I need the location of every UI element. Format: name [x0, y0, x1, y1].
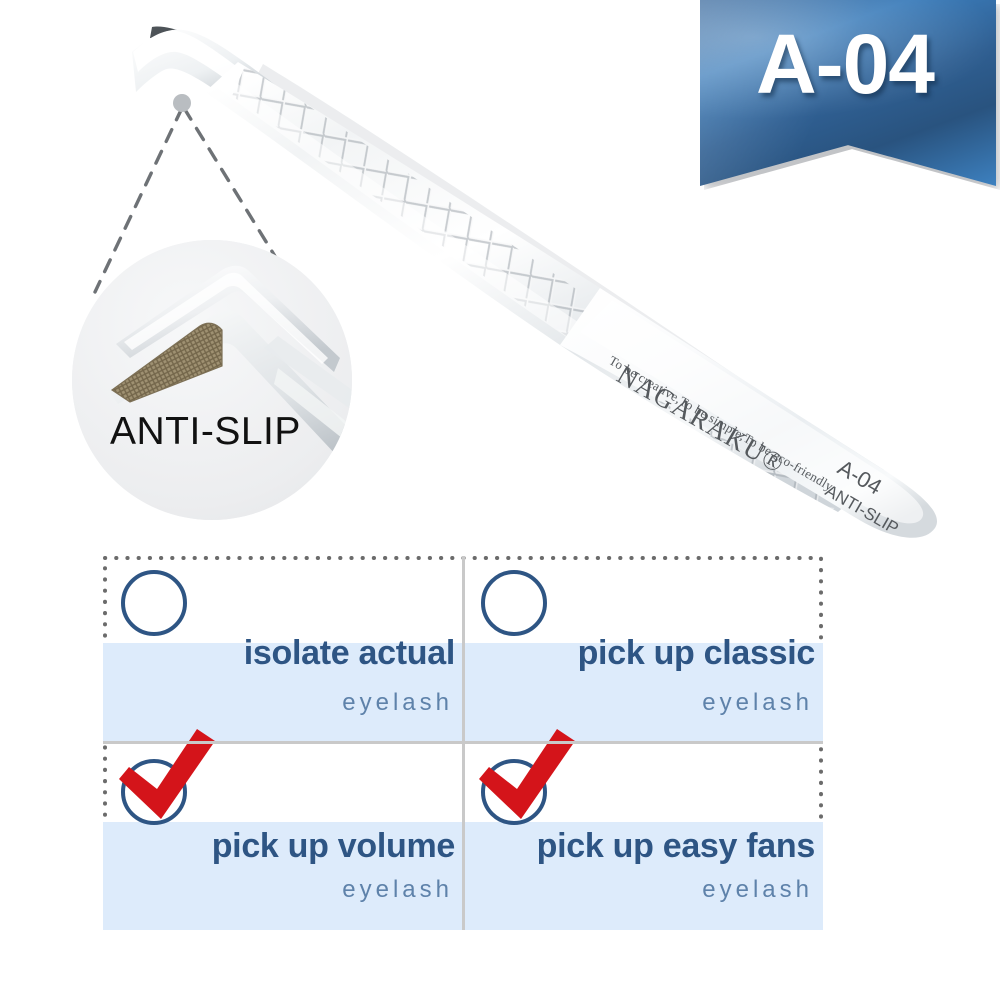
anti-slip-caption: ANTI-SLIP [110, 410, 301, 454]
handle-engraving: NAGARAKU® To be creative,To be simple,To… [607, 353, 902, 538]
feature-cell-isolate-actual[interactable]: isolate actual eyelash [103, 556, 463, 743]
feature-title: pick up easy fans [537, 827, 815, 866]
model-badge-ribbon: A-04 [700, 0, 1000, 186]
product-image-canvas: NAGARAKU® To be creative,To be simple,To… [0, 0, 1000, 1000]
feature-cell-pick-up-easy-fans[interactable]: pick up easy fans eyelash [463, 743, 823, 930]
feature-comparison-grid: isolate actual eyelash pick up classic e… [103, 556, 823, 930]
magnifier-content [72, 240, 352, 520]
ribbon-label: A-04 [700, 16, 990, 113]
empty-circle-icon[interactable] [481, 570, 547, 636]
feature-title: pick up classic [578, 634, 815, 673]
anti-slip-magnifier [72, 240, 352, 520]
feature-subtitle: eyelash [342, 876, 453, 904]
feature-cell-pick-up-classic[interactable]: pick up classic eyelash [463, 556, 823, 743]
feature-subtitle: eyelash [342, 689, 453, 717]
feature-title: pick up volume [212, 827, 455, 866]
callout-dot-icon [173, 94, 191, 112]
grid-horizontal-divider [103, 741, 823, 744]
empty-circle-icon[interactable] [121, 570, 187, 636]
feature-title: isolate actual [244, 634, 455, 673]
feature-subtitle: eyelash [702, 689, 813, 717]
feature-subtitle: eyelash [702, 876, 813, 904]
feature-cell-pick-up-volume[interactable]: pick up volume eyelash [103, 743, 463, 930]
